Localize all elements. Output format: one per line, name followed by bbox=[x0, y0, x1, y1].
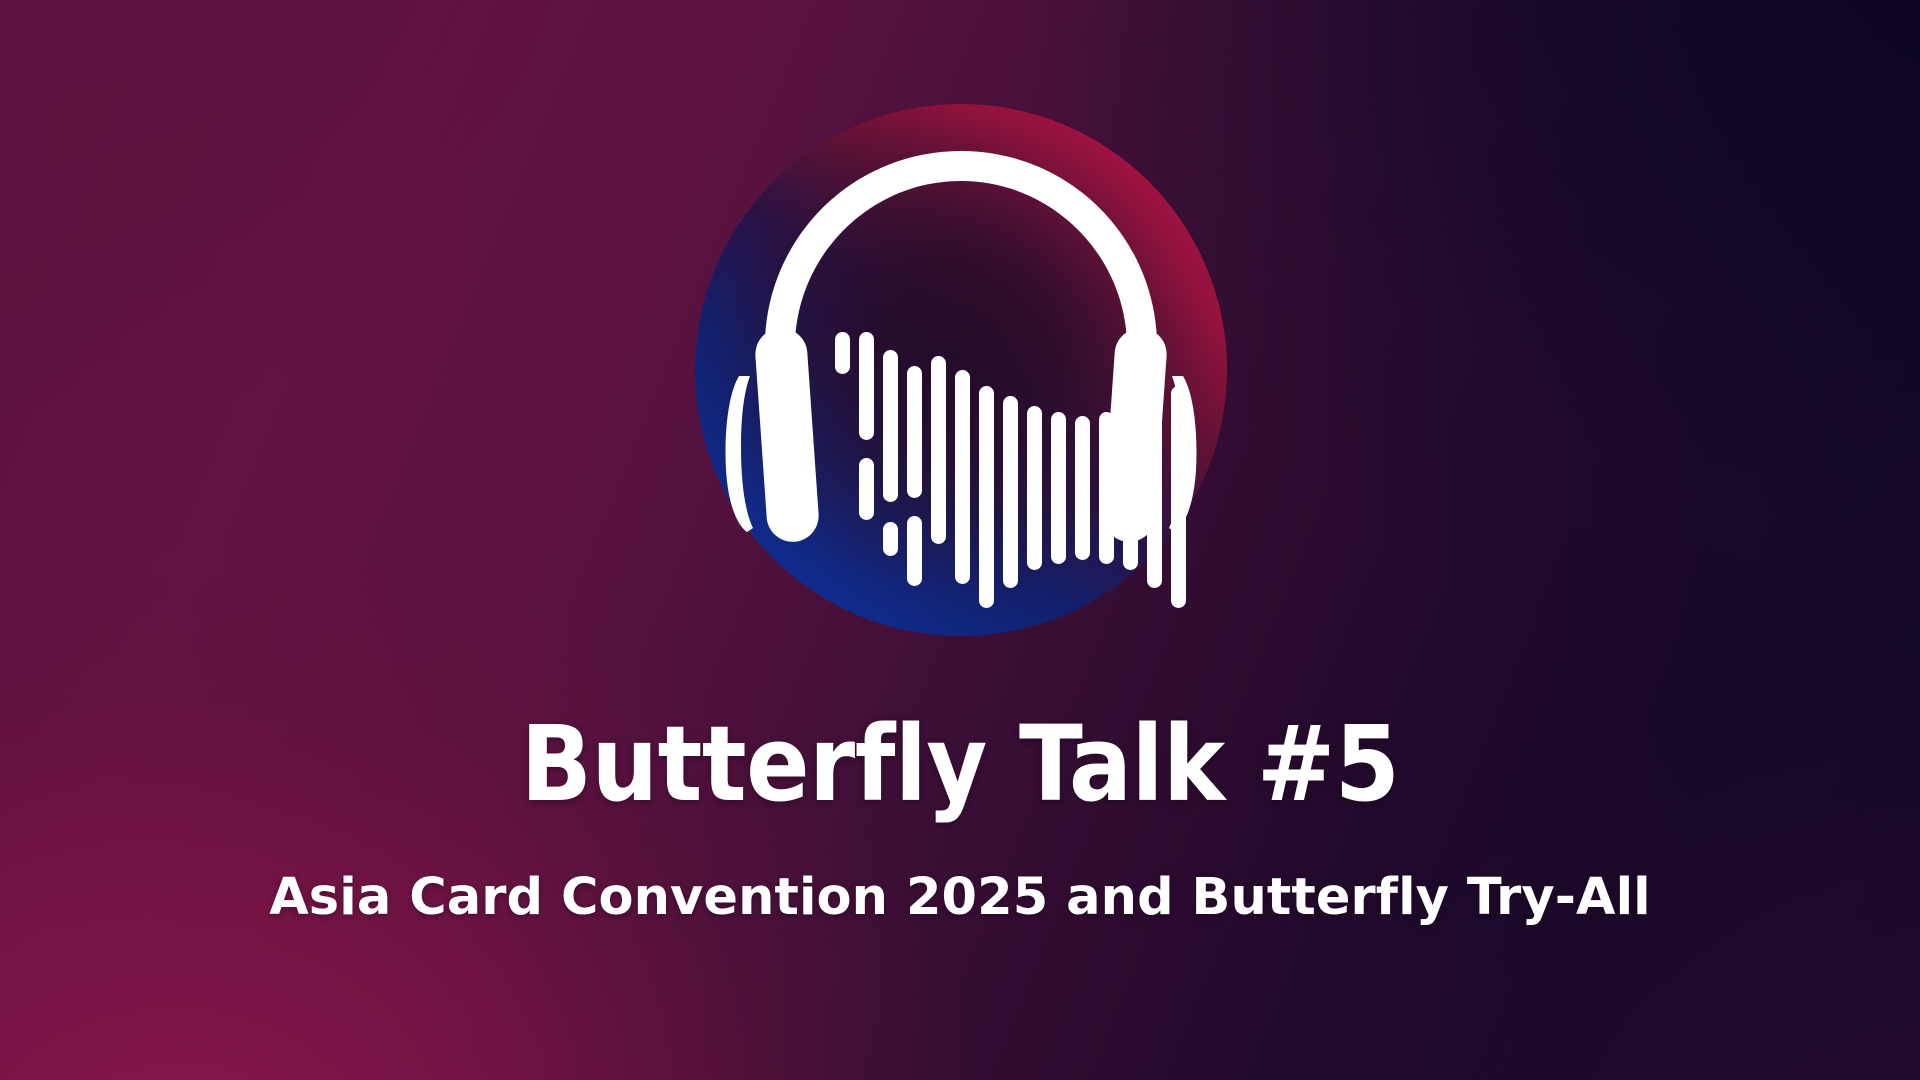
waveform-dash bbox=[1099, 458, 1114, 520]
waveform-bar bbox=[979, 386, 994, 608]
waveform-bar bbox=[835, 332, 850, 374]
waveform-bar bbox=[883, 350, 898, 502]
page-title: Butterfly Talk #5 bbox=[0, 712, 1920, 816]
waveform-bar bbox=[1123, 406, 1138, 570]
waveform-bar bbox=[1027, 406, 1042, 570]
waveform-bar bbox=[859, 332, 874, 440]
waveform-bar bbox=[1147, 396, 1162, 588]
waveform-dash bbox=[907, 516, 922, 586]
headphones-waveform-icon bbox=[695, 104, 1227, 636]
waveform-dash bbox=[883, 522, 898, 556]
waveform-bar bbox=[1171, 386, 1186, 608]
waveform-bar bbox=[931, 356, 946, 544]
cover-canvas: Butterfly Talk #5 Asia Card Convention 2… bbox=[0, 0, 1920, 1080]
waveform-dash bbox=[859, 458, 874, 520]
page-subtitle: Asia Card Convention 2025 and Butterfly … bbox=[0, 872, 1920, 923]
waveform-bar bbox=[1003, 396, 1018, 588]
waveform-bar bbox=[955, 370, 970, 584]
waveform-bar bbox=[1051, 412, 1066, 564]
podcast-logo bbox=[695, 104, 1227, 636]
waveform-bar bbox=[1075, 416, 1090, 560]
waveform-bar bbox=[907, 366, 922, 498]
